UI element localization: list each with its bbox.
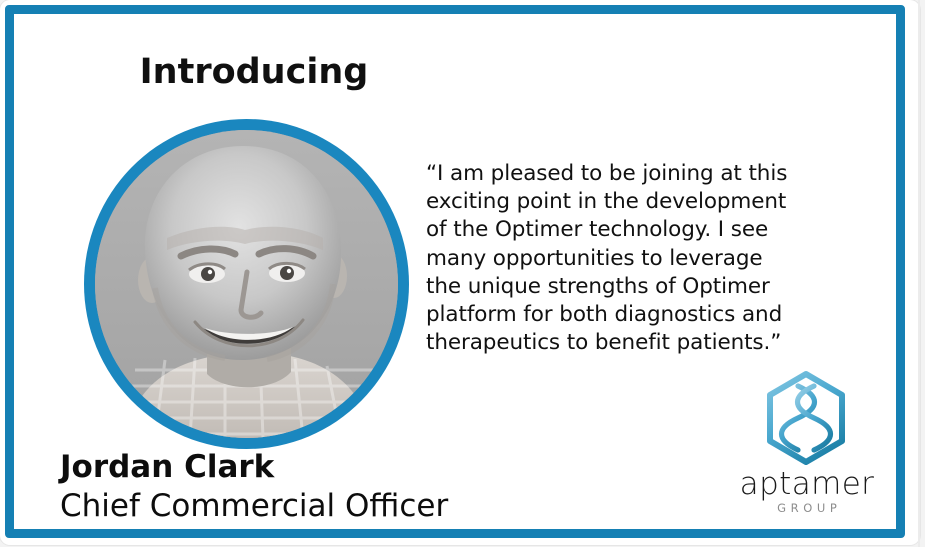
hexagon-dna-helix-icon	[760, 370, 852, 466]
logo-wordmark: aptamer	[732, 468, 882, 500]
portrait-photo	[95, 130, 398, 438]
announcement-card: Introducing	[5, 5, 905, 538]
person-title: Chief Commercial Officer	[60, 488, 448, 524]
company-logo: aptamer GROUP	[732, 370, 882, 520]
person-name: Jordan Clark	[60, 449, 274, 485]
logo-subtext: GROUP	[732, 501, 882, 515]
page-title: Introducing	[44, 52, 464, 92]
quote-text: “I am pleased to be joining at this exci…	[426, 160, 794, 357]
page-edge-divider	[918, 0, 920, 547]
page-background: Introducing	[0, 0, 925, 547]
portrait	[84, 119, 409, 449]
